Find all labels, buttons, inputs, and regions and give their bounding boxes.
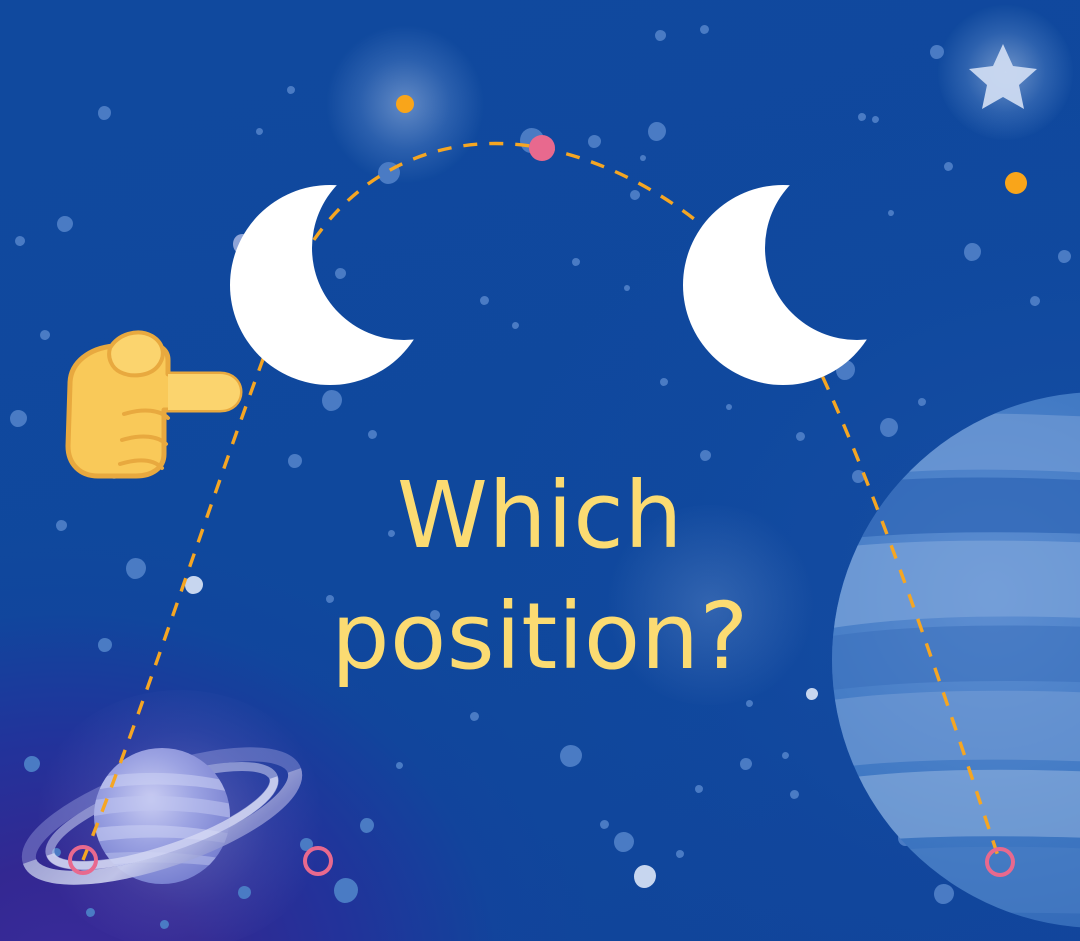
apex-marker[interactable] — [529, 135, 555, 161]
pointing-hand-cursor[interactable] — [52, 322, 248, 480]
orange-dot-top-right — [1005, 172, 1027, 194]
space-illustration-scene: Which position? — [0, 0, 1080, 941]
orange-dot-top-left — [396, 95, 414, 113]
